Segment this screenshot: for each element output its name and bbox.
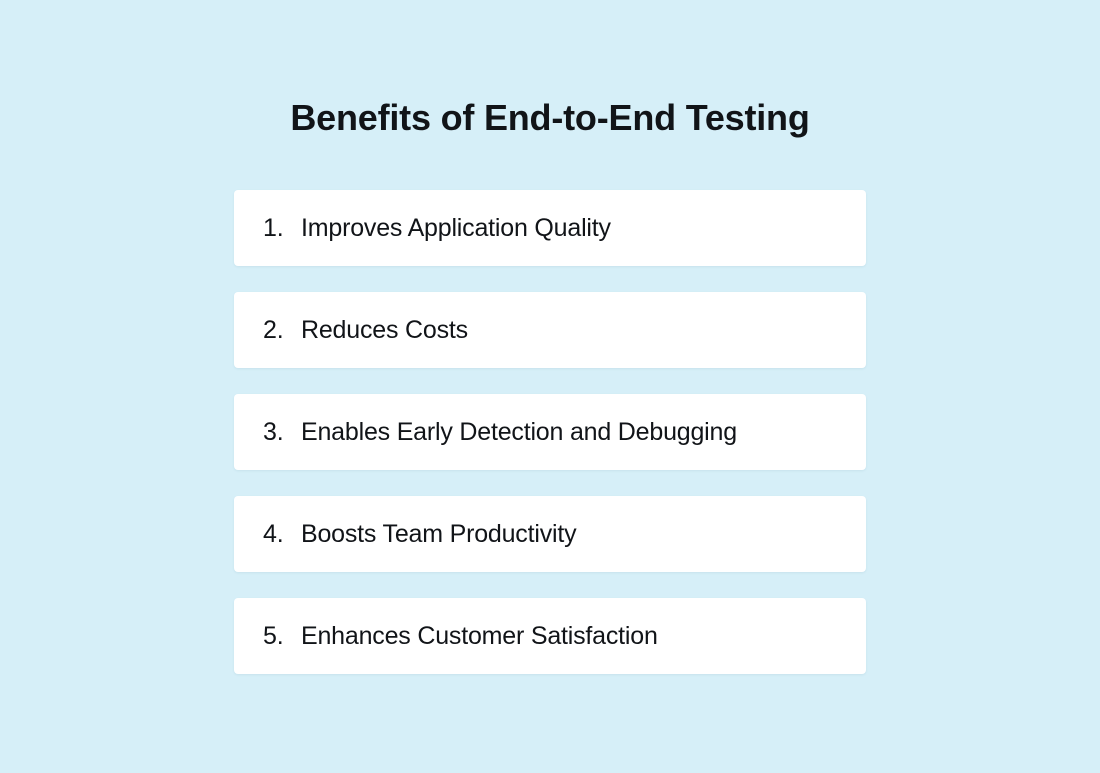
list-item-label: Reduces Costs [301,315,468,345]
list-item: 4. Boosts Team Productivity [234,496,866,572]
list-item-number: 5. [263,621,301,651]
list-item: 5. Enhances Customer Satisfaction [234,598,866,674]
list-item: 2. Reduces Costs [234,292,866,368]
list-item: 1. Improves Application Quality [234,190,866,266]
list-item: 3. Enables Early Detection and Debugging [234,394,866,470]
list-item-label: Enhances Customer Satisfaction [301,621,658,651]
list-item-number: 4. [263,519,301,549]
benefits-list: 1. Improves Application Quality 2. Reduc… [234,190,866,674]
page-title: Benefits of End-to-End Testing [0,96,1100,140]
list-item-label: Improves Application Quality [301,213,611,243]
list-item-number: 2. [263,315,301,345]
list-item-number: 3. [263,417,301,447]
list-item-label: Enables Early Detection and Debugging [301,417,737,447]
list-item-label: Boosts Team Productivity [301,519,576,549]
infographic-page: Benefits of End-to-End Testing 1. Improv… [0,0,1100,773]
list-item-number: 1. [263,213,301,243]
